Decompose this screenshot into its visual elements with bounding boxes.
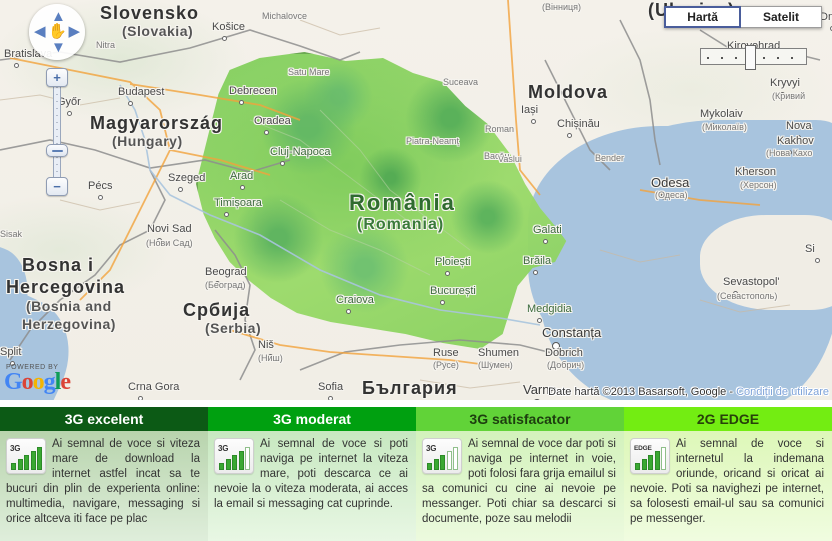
pan-left-icon[interactable]: ◀	[34, 24, 46, 39]
map-city-dot	[787, 150, 792, 155]
signal-bar	[440, 455, 445, 470]
map-city-dot	[224, 212, 229, 217]
horizontal-slider-handle[interactable]	[745, 45, 756, 70]
map-city-dot	[268, 354, 273, 359]
legend-column-title: 3G moderat	[208, 407, 416, 431]
attribution-text: Date hartă ©2013 Basarsoft, Google -	[548, 386, 736, 398]
zoom-slider-ticks	[56, 87, 58, 183]
signal-bar	[661, 447, 666, 470]
legend-column-2: 3G moderat3GAi semnal de voce si poti na…	[208, 407, 416, 541]
zoom-slider-track[interactable]	[53, 82, 61, 186]
pan-control[interactable]: ▲ ▼ ◀ ▶ ✋	[29, 4, 85, 60]
map-city-dot	[240, 185, 245, 190]
legend-column-body: EDGEAi semnal de voce si internetul la i…	[624, 431, 832, 541]
google-letter-o2: o	[33, 369, 44, 395]
legend-column-body: 3GAi semnal de voce dar poti si naviga p…	[416, 431, 624, 541]
legend-column-4: 2G EDGEEDGEAi semnal de voce si internet…	[624, 407, 832, 541]
map-city-dot	[488, 362, 493, 367]
map-city-dot	[780, 92, 785, 97]
signal-bars	[635, 448, 666, 470]
zoom-in-button[interactable]: +	[46, 68, 68, 87]
legend-column-body: 3GAi semnal de voce si poti naviga pe in…	[208, 431, 416, 541]
map-city-dot	[815, 258, 820, 263]
signal-bar	[648, 455, 653, 470]
map-city-dot	[280, 161, 285, 166]
signal-bar	[447, 451, 452, 470]
signal-bar	[232, 455, 237, 470]
signal-bar	[18, 459, 23, 470]
signal-bar	[239, 451, 244, 470]
map-city-dot	[157, 238, 162, 243]
signal-bar	[427, 463, 432, 470]
signal-bars	[219, 448, 250, 470]
google-logo[interactable]: POWERED BY Google	[4, 364, 70, 394]
signal-bar	[655, 451, 660, 470]
signal-bars	[427, 448, 458, 470]
signal-bar	[642, 459, 647, 470]
map-city-dot	[222, 36, 227, 41]
legend-column-title: 2G EDGE	[624, 407, 832, 431]
signal-bar	[11, 463, 16, 470]
map-city-dot	[14, 63, 19, 68]
map-city-dot	[98, 195, 103, 200]
map-city-dot	[745, 181, 750, 186]
signal-bars	[11, 448, 42, 470]
map-city-dot	[533, 399, 541, 400]
legend-column-body: 3GAi semnal de voce si viteza mare de do…	[0, 431, 208, 541]
zoom-out-button[interactable]: −	[46, 177, 68, 196]
map-city-dot	[264, 130, 269, 135]
map-city-dot	[346, 309, 351, 314]
google-letter-o1: o	[22, 369, 33, 395]
map-city-dot	[138, 396, 143, 400]
map-city-dot	[443, 362, 448, 367]
signal-strength-icon: EDGE	[630, 438, 670, 474]
legend-column-title: 3G excelent	[0, 407, 208, 431]
signal-bar	[453, 447, 458, 470]
map-city-dot	[710, 123, 715, 128]
signal-bar	[635, 463, 640, 470]
signal-strength-icon: 3G	[214, 438, 254, 474]
signal-bar	[434, 459, 439, 470]
pan-down-icon[interactable]: ▼	[51, 40, 66, 55]
signal-bar	[226, 459, 231, 470]
legend-column-title: 3G satisfacator	[416, 407, 624, 431]
google-wordmark: Google	[4, 369, 70, 395]
map-city-dot	[239, 100, 244, 105]
legend-column-3: 3G satisfacator3GAi semnal de voce dar p…	[416, 407, 624, 541]
map-type-control[interactable]: Hartă Satelit	[664, 6, 822, 28]
signal-bar	[245, 447, 250, 470]
map-city-dot	[543, 239, 548, 244]
signal-strength-icon: 3G	[422, 438, 462, 474]
map-city-dot	[796, 135, 801, 140]
map-city-dot	[328, 396, 333, 400]
map-type-harta-button[interactable]: Hartă	[664, 6, 741, 28]
coverage-legend: 3G excelent3GAi semnal de voce si viteza…	[0, 407, 832, 541]
map-city-dot	[531, 119, 536, 124]
map-city-dot	[533, 270, 538, 275]
map-city-dot	[555, 362, 560, 367]
pan-hand-icon[interactable]: ✋	[48, 22, 67, 41]
signal-bar	[219, 463, 224, 470]
map-type-satelit-button[interactable]: Satelit	[741, 6, 822, 28]
map-city-dot	[661, 192, 669, 200]
map-viewport[interactable]: Slovensko(Slovakia)Magyarország(Hungary)…	[0, 0, 832, 400]
map-city-dot	[128, 101, 133, 106]
terms-of-use-link[interactable]: Condiții de utilizare	[736, 386, 829, 398]
signal-bar	[24, 455, 29, 470]
zoom-slider[interactable]: + −	[42, 68, 72, 196]
signal-bar	[37, 447, 42, 470]
map-city-dot	[733, 291, 738, 296]
legend-column-1: 3G excelent3GAi semnal de voce si viteza…	[0, 407, 208, 541]
signal-bar	[31, 451, 36, 470]
map-city-dot	[445, 271, 450, 276]
signal-strength-icon: 3G	[6, 438, 46, 474]
map-attribution: Date hartă ©2013 Basarsoft, Google - Con…	[548, 386, 829, 398]
google-letter-e: e	[60, 369, 70, 395]
google-letter-g1: G	[4, 369, 22, 395]
map-city-dot	[552, 342, 560, 350]
map-city-dot	[215, 281, 220, 286]
pan-right-icon[interactable]: ▶	[68, 24, 80, 39]
map-city-dot	[440, 300, 445, 305]
zoom-slider-handle[interactable]	[46, 144, 68, 157]
map-city-dot	[567, 133, 572, 138]
map-city-dot	[178, 187, 183, 192]
google-letter-g2: g	[44, 369, 55, 395]
map-city-dot	[537, 318, 542, 323]
horizontal-slider[interactable]	[700, 48, 807, 65]
